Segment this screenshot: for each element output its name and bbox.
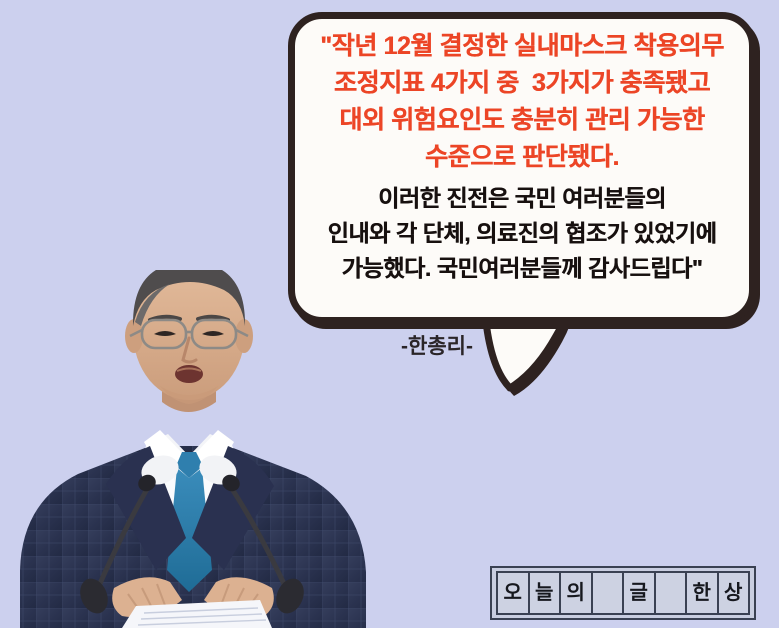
- quote-line-black-2: 인내와 각 단체, 의료진의 협조가 있었기에: [302, 216, 742, 251]
- logo-cell-6: [656, 573, 688, 613]
- logo-cell-7: 한: [687, 573, 719, 613]
- logo-cell-2: 늘: [530, 573, 562, 613]
- quote-line-black-1: 이러한 진전은 국민 여러분들의: [302, 181, 742, 216]
- logo-cell-4: [593, 573, 625, 613]
- speech-bubble-text: "작년 12월 결정한 실내마스크 착용의무 조정지표 4가지 중 3가지가 충…: [288, 12, 756, 324]
- speech-bubble: "작년 12월 결정한 실내마스크 착용의무 조정지표 4가지 중 3가지가 충…: [288, 12, 756, 402]
- brand-logo-box: 오 늘 의 글 한 상: [490, 566, 756, 620]
- manuscript-grid: 오 늘 의 글 한 상: [496, 571, 750, 615]
- quote-line-red-3: 대외 위험요인도 충분히 관리 가능한: [302, 102, 742, 139]
- quote-line-black-3: 가능했다. 국민여러분들께 감사드립다": [302, 251, 742, 286]
- logo-cell-3: 의: [561, 573, 593, 613]
- quote-line-red-1: "작년 12월 결정한 실내마스크 착용의무: [302, 28, 742, 65]
- quote-attribution: -한총리-: [372, 330, 502, 360]
- logo-cell-5: 글: [624, 573, 656, 613]
- quote-line-red-2: 조정지표 4가지 중 3가지가 충족됐고: [302, 65, 742, 102]
- logo-cell-8: 상: [719, 573, 749, 613]
- logo-cell-1: 오: [498, 573, 530, 613]
- poster-canvas: "작년 12월 결정한 실내마스크 착용의무 조정지표 4가지 중 3가지가 충…: [0, 0, 779, 628]
- quote-line-red-4: 수준으로 판단됐다.: [302, 139, 742, 176]
